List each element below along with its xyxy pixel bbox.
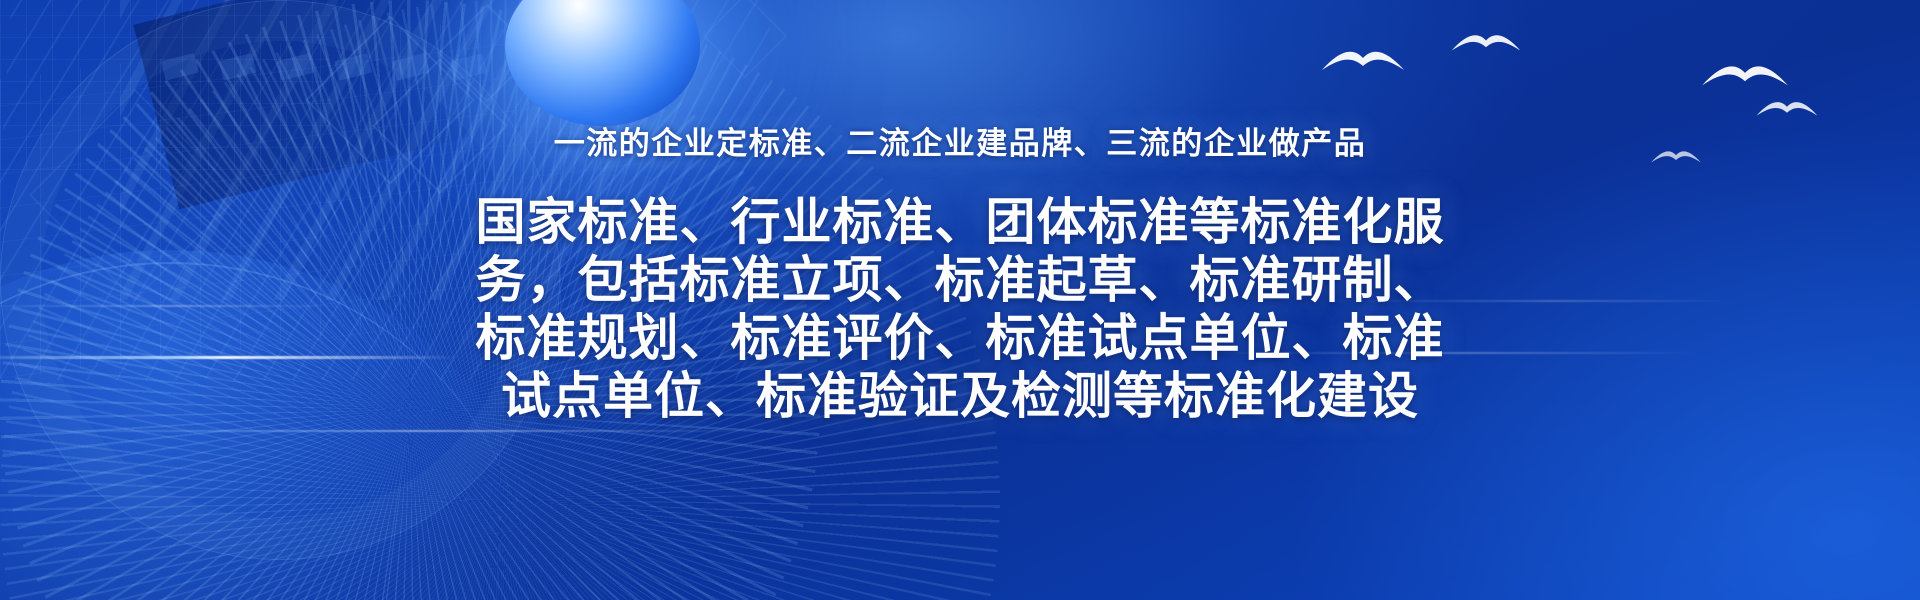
- banner-headline: 国家标准、行业标准、团体标准等标准化服 务，包括标准立项、标准起草、标准研制、 …: [445, 193, 1475, 425]
- hero-banner: 一流的企业定标准、二流企业建品牌、三流的企业做产品 国家标准、行业标准、团体标准…: [0, 0, 1920, 600]
- headline-line-3: 标准规划、标准评价、标准试点单位、标准: [445, 309, 1475, 367]
- headline-line-1: 国家标准、行业标准、团体标准等标准化服: [445, 193, 1475, 251]
- light-streak-2: [0, 430, 760, 432]
- banner-tagline: 一流的企业定标准、二流企业建品牌、三流的企业做产品: [0, 118, 1920, 163]
- banner-content: 一流的企业定标准、二流企业建品牌、三流的企业做产品 国家标准、行业标准、团体标准…: [0, 0, 1920, 425]
- headline-line-2: 务，包括标准立项、标准起草、标准研制、: [445, 251, 1475, 309]
- headline-line-4: 试点单位、标准验证及检测等标准化建设: [445, 367, 1475, 425]
